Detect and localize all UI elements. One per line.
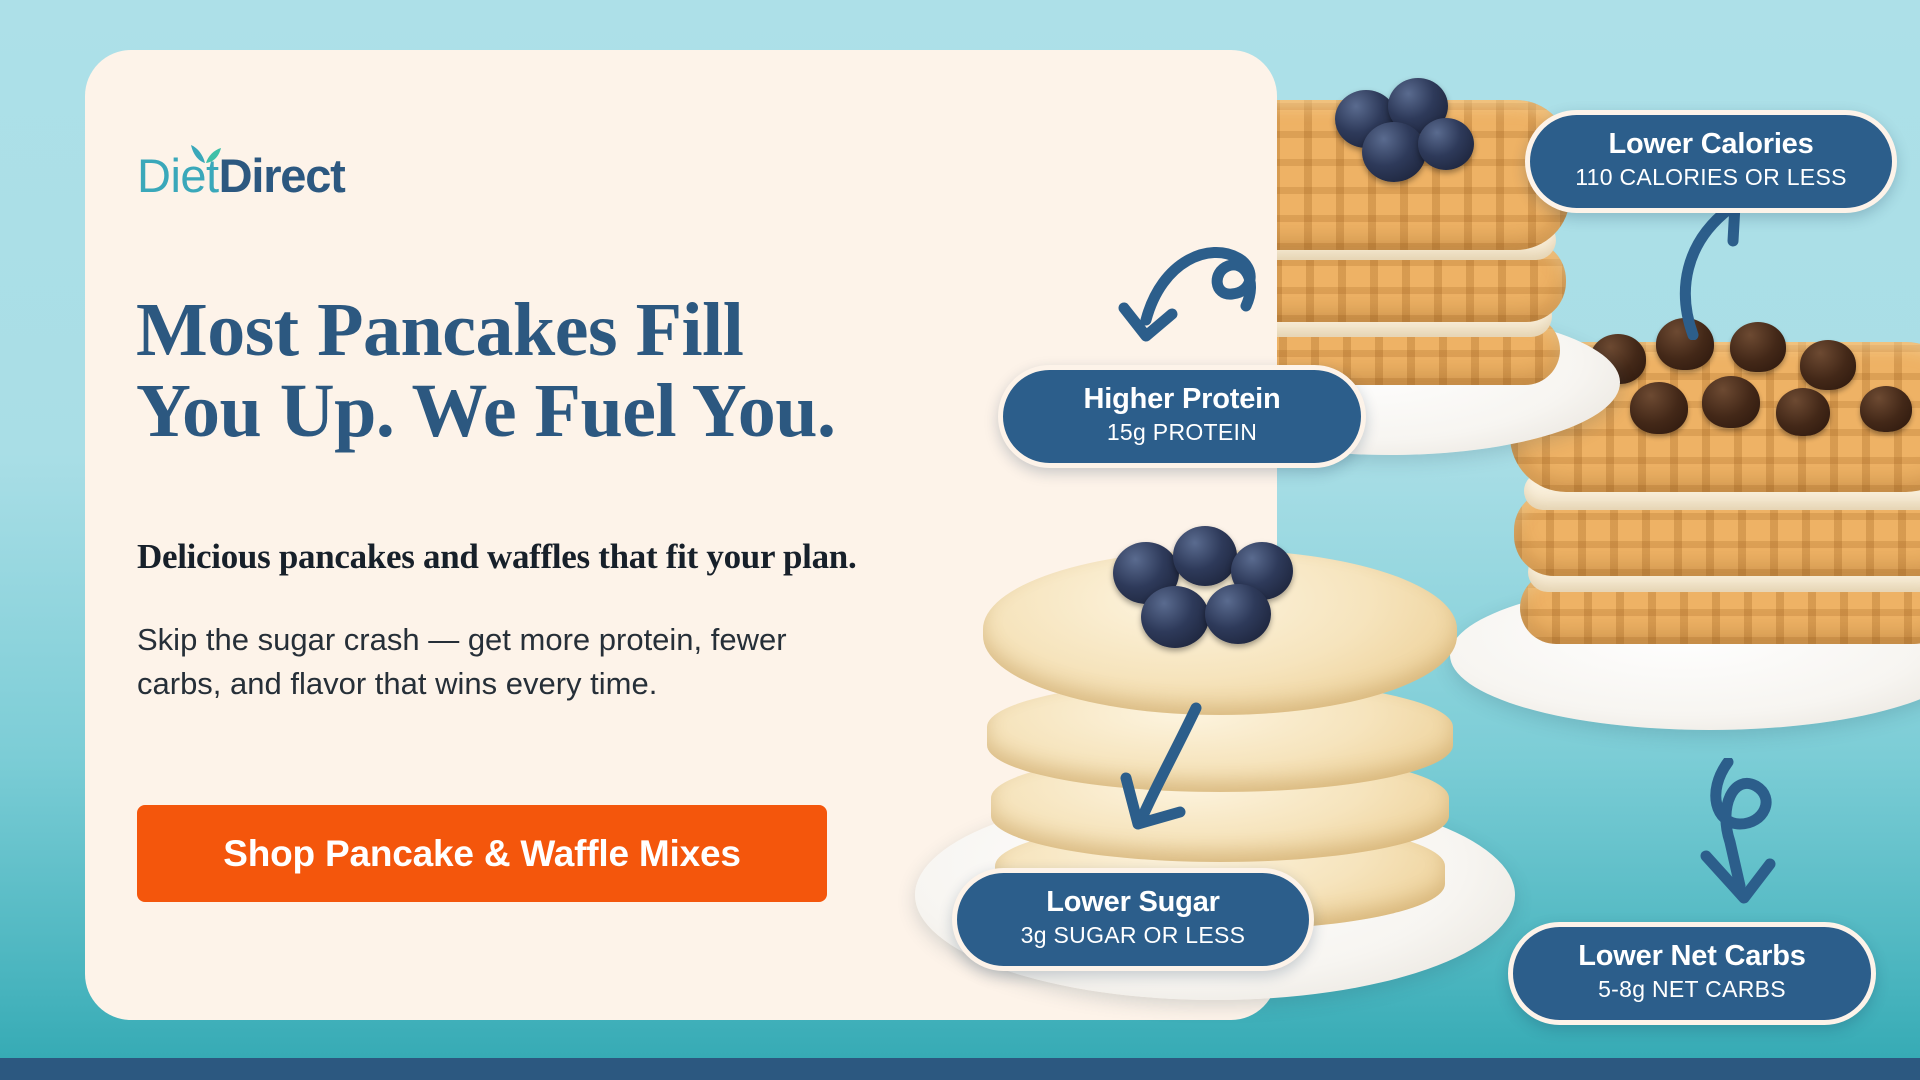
badge-higher-protein-subtitle: 15g PROTEIN — [1037, 419, 1327, 447]
shop-pancake-waffle-mixes-button[interactable]: Shop Pancake & Waffle Mixes — [137, 805, 827, 902]
badge-lower-sugar-subtitle: 3g SUGAR OR LESS — [991, 922, 1275, 950]
badge-lower-sugar[interactable]: Lower Sugar 3g SUGAR OR LESS — [952, 868, 1314, 971]
badge-lower-calories[interactable]: Lower Calories 110 CALORIES OR LESS — [1525, 110, 1897, 213]
brand-logo[interactable]: Diet Direct — [137, 152, 345, 199]
badge-lower-calories-title: Lower Calories — [1564, 128, 1858, 161]
badge-lower-sugar-title: Lower Sugar — [991, 886, 1275, 919]
body-line-2: carbs, and flavor that wins every time. — [137, 662, 1007, 706]
badge-lower-net-carbs[interactable]: Lower Net Carbs 5-8g NET CARBS — [1508, 922, 1876, 1025]
headline-line-1: Most Pancakes Fill — [136, 290, 1006, 371]
badge-lower-calories-subtitle: 110 CALORIES OR LESS — [1564, 164, 1858, 192]
arrow-to-lower-net-carbs-icon — [1690, 758, 1850, 928]
badge-higher-protein-title: Higher Protein — [1037, 383, 1327, 416]
headline-line-2: You Up. We Fuel You. — [136, 371, 1006, 452]
leaf-icon — [189, 143, 223, 165]
badge-lower-net-carbs-subtitle: 5-8g NET CARBS — [1547, 976, 1837, 1004]
bottom-accent-strip — [0, 1058, 1920, 1080]
badge-higher-protein[interactable]: Higher Protein 15g PROTEIN — [998, 365, 1366, 468]
badge-lower-net-carbs-title: Lower Net Carbs — [1547, 940, 1837, 973]
body-line-1: Skip the sugar crash — get more protein,… — [137, 618, 1007, 662]
logo-text-direct: Direct — [219, 152, 345, 199]
subheadline: Delicious pancakes and waffles that fit … — [137, 537, 1137, 577]
headline: Most Pancakes Fill You Up. We Fuel You. — [136, 290, 1006, 451]
body-copy: Skip the sugar crash — get more protein,… — [137, 618, 1007, 706]
promo-banner: Diet Direct Most Pancakes Fill You Up. W… — [0, 0, 1920, 1080]
